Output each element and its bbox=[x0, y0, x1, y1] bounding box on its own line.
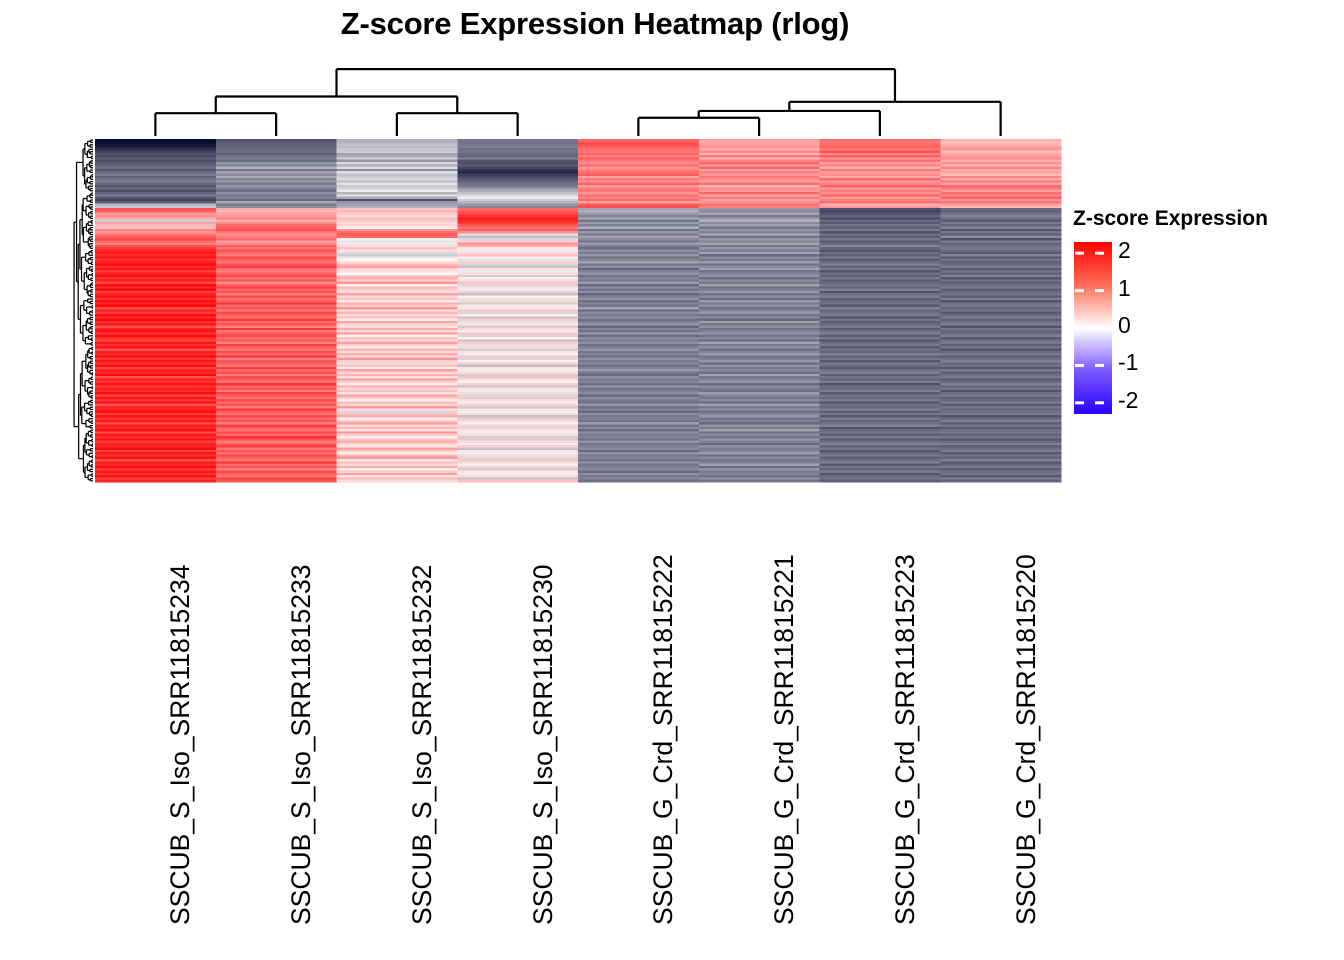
legend-tick-mark bbox=[1095, 327, 1104, 330]
legend-tick-mark bbox=[1095, 252, 1104, 255]
legend-tick-mark bbox=[1075, 401, 1084, 404]
heatmap-cell bbox=[337, 480, 458, 483]
legend-tick-label: -2 bbox=[1118, 389, 1138, 412]
column-label: SSCUB_S_Iso_SRR11815234 bbox=[165, 565, 196, 925]
column-label: SSCUB_S_Iso_SRR11815232 bbox=[407, 565, 438, 925]
legend-tick-mark bbox=[1075, 289, 1084, 292]
heatmap-cell bbox=[578, 480, 699, 483]
heatmap-cell bbox=[940, 480, 1061, 483]
legend-tick-mark bbox=[1095, 401, 1104, 404]
page-title: Z-score Expression Heatmap (rlog) bbox=[0, 6, 1190, 42]
column-label: SSCUB_G_Crd_SRR11815221 bbox=[769, 554, 800, 925]
heatmap-cell bbox=[95, 480, 216, 483]
legend-tick-mark bbox=[1075, 327, 1084, 330]
column-label: SSCUB_G_Crd_SRR11815223 bbox=[890, 554, 921, 925]
heatmap-cell bbox=[457, 480, 578, 483]
legend-tick-label: 1 bbox=[1118, 277, 1131, 300]
heatmap-body bbox=[95, 139, 1062, 483]
legend-tick-label: 2 bbox=[1118, 239, 1131, 262]
column-label: SSCUB_G_Crd_SRR11815220 bbox=[1011, 554, 1042, 925]
legend-tick-label: -1 bbox=[1118, 351, 1138, 374]
column-label: SSCUB_S_Iso_SRR11815230 bbox=[528, 565, 559, 925]
heatmap-cell bbox=[216, 480, 337, 483]
column-label: SSCUB_S_Iso_SRR11815233 bbox=[286, 565, 317, 925]
heatmap-cell bbox=[820, 480, 941, 483]
legend-title: Z-score Expression bbox=[1073, 207, 1268, 231]
legend-tick-mark bbox=[1075, 364, 1084, 367]
heatmap-cell bbox=[699, 480, 820, 483]
legend-tick-mark bbox=[1075, 252, 1084, 255]
column-label: SSCUB_G_Crd_SRR11815222 bbox=[648, 554, 679, 925]
legend-tick-mark bbox=[1095, 289, 1104, 292]
legend-tick-mark bbox=[1095, 364, 1104, 367]
legend-colorbar bbox=[1074, 242, 1112, 414]
legend-tick-label: 0 bbox=[1118, 314, 1131, 337]
